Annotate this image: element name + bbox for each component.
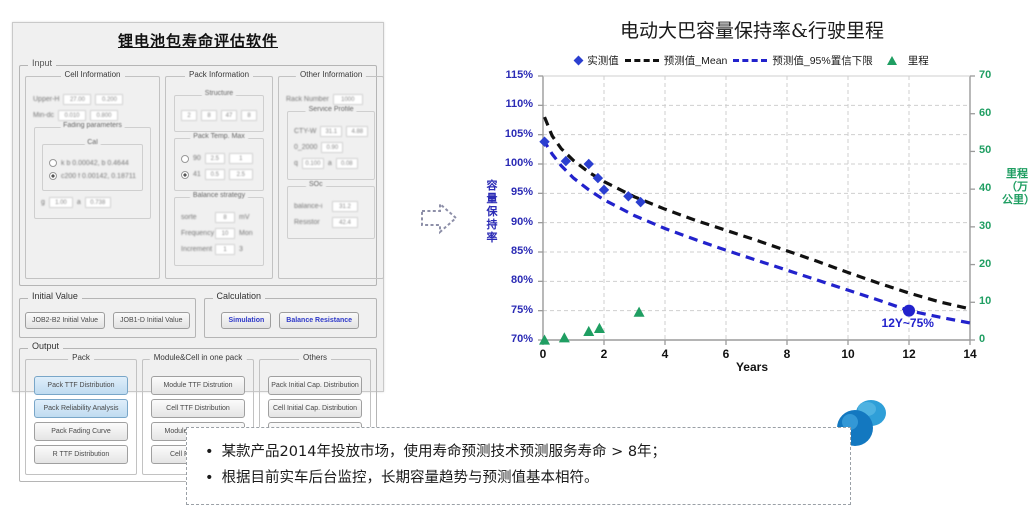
cell-field-row[interactable]: Min-dc 0.010 0.800 [33,110,152,121]
plot-svg [470,68,1034,388]
cell-field-label: Upper-H [33,96,59,103]
x-tick: 6 [713,347,739,361]
tail-label: g [41,199,45,206]
radio-button[interactable] [49,159,57,167]
balance-label: Frequency [181,230,211,237]
fading-parameters-section: Fading parameters Cal k b 0.00042, b 0.4… [34,127,151,219]
legend-label-mileage: 里程 [908,53,929,68]
dashed-line-blue-icon [733,59,767,62]
radio-label: c200 f 0.00142, 0.18711 [61,173,136,180]
temp-value[interactable]: 2.5 [205,153,225,164]
cal-legend: Cal [84,139,101,146]
tail-value2[interactable]: 0.738 [85,197,111,208]
service-row[interactable]: 0_2000 0.90 [294,142,368,153]
output-legend: Output [28,341,63,351]
fading-parameters-legend: Fading parameters [60,122,125,129]
pack-ttf-distribution-button[interactable]: Pack TTF Distribution [34,376,128,395]
tail-label2: a [77,199,81,206]
radio-button[interactable] [181,155,189,163]
structure-value[interactable]: 47 [221,110,237,121]
pack-initial-cap-distribution-button[interactable]: Pack Initial Cap. Distribution [268,376,362,395]
temp-value2[interactable]: 2.5 [229,169,253,180]
fading-tail-row[interactable]: g 1.00 a 0.738 [41,197,144,208]
radio-button-selected[interactable] [181,171,189,179]
legend-label-measured: 实测值 [587,53,619,68]
service-row[interactable]: q 0.100 a 0.08 [294,158,368,169]
cell-field-value[interactable]: 0.010 [58,110,86,121]
radio-row[interactable]: c200 f 0.00142, 0.18711 [49,172,136,180]
soc-value[interactable]: 42.4 [332,217,358,228]
legend-item-mean: 预测值_Mean [625,53,728,68]
callout-bullet-2: 根据目前实车后台监控，长期容量趋势与预测值基本相符。 [205,465,832,491]
other-information-legend: Other Information [296,70,366,79]
service-row[interactable]: CTY-W 31.1 4.88 [294,126,368,137]
service-profile-legend: Service Profile [306,106,357,113]
battery-life-software-panel: 锂电池包寿命评估软件 Input Cell Information Upper-… [12,22,384,392]
input-group: Input Cell Information Upper-H 27.00 0.2… [19,65,377,286]
pack-temp-max-section: Pack Temp. Max 90 2.5 1 41 0.5 2.5 [174,138,264,191]
y-axis-right-label: 里程（万公里） [1002,168,1032,207]
y-tick-left: 95% [497,186,533,198]
simulation-button[interactable]: Simulation [221,312,271,329]
input-group-legend: Input [28,58,56,68]
legend-item-measured: 实测值 [575,53,619,68]
balance-unit: 3 [239,246,243,253]
summary-callout: 某款产品2014年投放市场，使用寿命预测技术预测服务寿命 > 8年； 根据目前实… [186,427,851,505]
y-tick-right: 70 [979,69,1001,81]
job1-d-initial-value-button[interactable]: JOB1-D Initial Value [113,312,190,329]
other-information-section: Other Information Rack Number 1000 Servi… [278,76,384,279]
cal-section: Cal k b 0.00042, b 0.4644 c200 f 0.00142… [42,144,143,191]
soc-section: SOc balance-i 31.2 Resistor 42.4 [287,186,375,239]
output-others-legend: Others [299,353,331,362]
cell-field-value[interactable]: 27.00 [63,94,91,105]
annotation-12y75: 12Y~75% [882,316,934,330]
rack-number-value[interactable]: 1000 [333,94,363,105]
structure-row[interactable]: 2 8 47 8 [181,110,257,121]
y-tick-left: 70% [497,333,533,345]
balance-resistance-button[interactable]: Balance Resistance [279,312,359,329]
r-ttf-distribution-button[interactable]: R TTF Distribution [34,445,128,464]
calculation-legend: Calculation [213,291,266,301]
temp-label: 90 [193,155,201,162]
y-tick-right: 40 [979,182,1001,194]
structure-value[interactable]: 8 [201,110,217,121]
cell-information-legend: Cell Information [60,70,124,79]
service-value2[interactable]: 0.08 [336,158,358,169]
pack-information-section: Pack Information Structure 2 8 47 8 Pack… [165,76,273,279]
balance-value[interactable]: 8 [215,212,235,223]
service-profile-section: Service Profile CTY-W 31.1 4.88 0_2000 0… [287,111,375,180]
temp-row[interactable]: 41 0.5 2.5 [181,169,257,180]
soc-label: balance-i [294,203,328,210]
balance-unit: Mon [239,230,253,237]
cell-field-label: Min-dc [33,112,54,119]
diamond-marker-icon [574,56,584,66]
x-tick: 4 [652,347,678,361]
radio-label: k b 0.00042, b 0.4644 [61,160,129,167]
x-axis-label: Years [470,360,1034,374]
temp-value2[interactable]: 1 [229,153,253,164]
rack-number-row[interactable]: Rack Number 1000 [286,94,376,105]
y-tick-right: 60 [979,107,1001,119]
structure-legend: Structure [202,90,236,97]
balance-label: Increment [181,246,211,253]
balance-row[interactable]: Frequency 10 Mon [181,228,257,239]
temp-row[interactable]: 90 2.5 1 [181,153,257,164]
right-arrow-icon [418,198,462,238]
radio-row[interactable]: k b 0.00042, b 0.4644 [49,159,136,167]
legend-label-lower-bound: 预测值_95%置信下限 [772,53,872,68]
soc-row[interactable]: Resistor 42.4 [294,217,368,228]
y-tick-left: 85% [497,245,533,257]
y-tick-right: 20 [979,258,1001,270]
pack-temp-max-legend: Pack Temp. Max [190,133,248,140]
balance-strategy-section: Balance strategy sorte 8 mV Frequency 10… [174,197,264,266]
y-tick-left: 100% [497,157,533,169]
structure-value[interactable]: 8 [241,110,257,121]
pack-information-legend: Pack Information [185,70,253,79]
x-tick: 8 [774,347,800,361]
service-value[interactable]: 0.90 [321,142,343,153]
soc-row[interactable]: balance-i 31.2 [294,201,368,212]
capacity-retention-chart: 电动大巴容量保持率&行驶里程 实测值 预测值_Mean 预测值_95%置信下限 … [470,6,1034,406]
initial-value-group: Initial Value JOB2-B2 Initial Value JOB1… [19,298,196,338]
dashed-line-icon [625,59,659,62]
x-tick: 10 [835,347,861,361]
cell-ttf-distribution-button[interactable]: Cell TTF Distribution [151,399,245,418]
pack-reliability-analysis-button[interactable]: Pack Reliability Analysis [34,399,128,418]
rack-number-label: Rack Number [286,96,329,103]
callout-bullet-1: 某款产品2014年投放市场，使用寿命预测技术预测服务寿命 > 8年； [205,439,832,465]
legend-item-lower-bound: 预测值_95%置信下限 [733,53,872,68]
cell-field-value2[interactable]: 0.800 [90,110,118,121]
software-title: 锂电池包寿命评估软件 [13,30,383,51]
pack-fading-curve-button[interactable]: Pack Fading Curve [34,422,128,441]
module-ttf-distribution-button[interactable]: Module TTF Distrution [151,376,245,395]
x-tick: 0 [530,347,556,361]
service-value[interactable]: 0.100 [302,158,324,169]
soc-label: Resistor [294,219,328,226]
balance-value[interactable]: 10 [215,228,235,239]
output-pack-column: Pack Pack TTF Distribution Pack Reliabil… [25,359,137,475]
structure-section: Structure 2 8 47 8 [174,95,264,132]
balance-value[interactable]: 1 [215,244,235,255]
service-value2[interactable]: 4.88 [346,126,368,137]
y-tick-left: 105% [497,128,533,140]
soc-legend: SOc [306,181,326,188]
balance-row[interactable]: Increment 1 3 [181,244,257,255]
service-label: 0_2000 [294,144,317,151]
y-tick-right: 50 [979,144,1001,156]
y-tick-left: 110% [497,98,533,110]
chart-title: 电动大巴容量保持率&行驶里程 [470,16,1034,43]
balance-label: sorte [181,214,211,221]
structure-value[interactable]: 2 [181,110,197,121]
balance-strategy-legend: Balance strategy [190,192,248,199]
y-tick-right: 10 [979,295,1001,307]
x-tick: 12 [896,347,922,361]
cell-field-value2[interactable]: 0.200 [95,94,123,105]
legend-label-mean: 预测值_Mean [664,53,728,68]
tail-value[interactable]: 1.00 [49,197,73,208]
triangle-marker-icon [887,56,897,65]
job2-b2-initial-value-button[interactable]: JOB2-B2 Initial Value [25,312,105,329]
plot-area: 容量保持率 里程（万公里） Years 12Y~75% 70%75%80%85%… [470,68,1034,388]
cell-field-row[interactable]: Upper-H 27.00 0.200 [33,94,152,105]
y-tick-left: 90% [497,216,533,228]
temp-value[interactable]: 0.5 [205,169,225,180]
y-tick-left: 80% [497,274,533,286]
calculation-group: Calculation Simulation Balance Resistanc… [204,298,377,338]
service-label: CTY-W [294,128,316,135]
legend-item-mileage: 里程 [887,53,929,68]
service-label: q [294,160,298,167]
y-tick-right: 0 [979,333,1001,345]
output-pack-legend: Pack [68,353,94,362]
temp-label: 41 [193,171,201,178]
x-tick: 2 [591,347,617,361]
chart-legend: 实测值 预测值_Mean 预测值_95%置信下限 里程 [470,53,1034,68]
y-tick-left: 115% [497,69,533,81]
service-value[interactable]: 31.1 [320,126,342,137]
cell-information-section: Cell Information Upper-H 27.00 0.200 Min… [25,76,160,279]
service-label2: a [328,160,332,167]
balance-row[interactable]: sorte 8 mV [181,212,257,223]
y-tick-left: 75% [497,304,533,316]
cell-initial-cap-distribution-button[interactable]: Cell Initial Cap. Distribution [268,399,362,418]
y-tick-right: 30 [979,220,1001,232]
initial-value-legend: Initial Value [28,291,82,301]
radio-button-selected[interactable] [49,172,57,180]
x-tick: 14 [957,347,983,361]
balance-unit: mV [239,214,250,221]
soc-value[interactable]: 31.2 [332,201,358,212]
output-module-cell-legend: Module&Cell in one pack [150,353,247,362]
